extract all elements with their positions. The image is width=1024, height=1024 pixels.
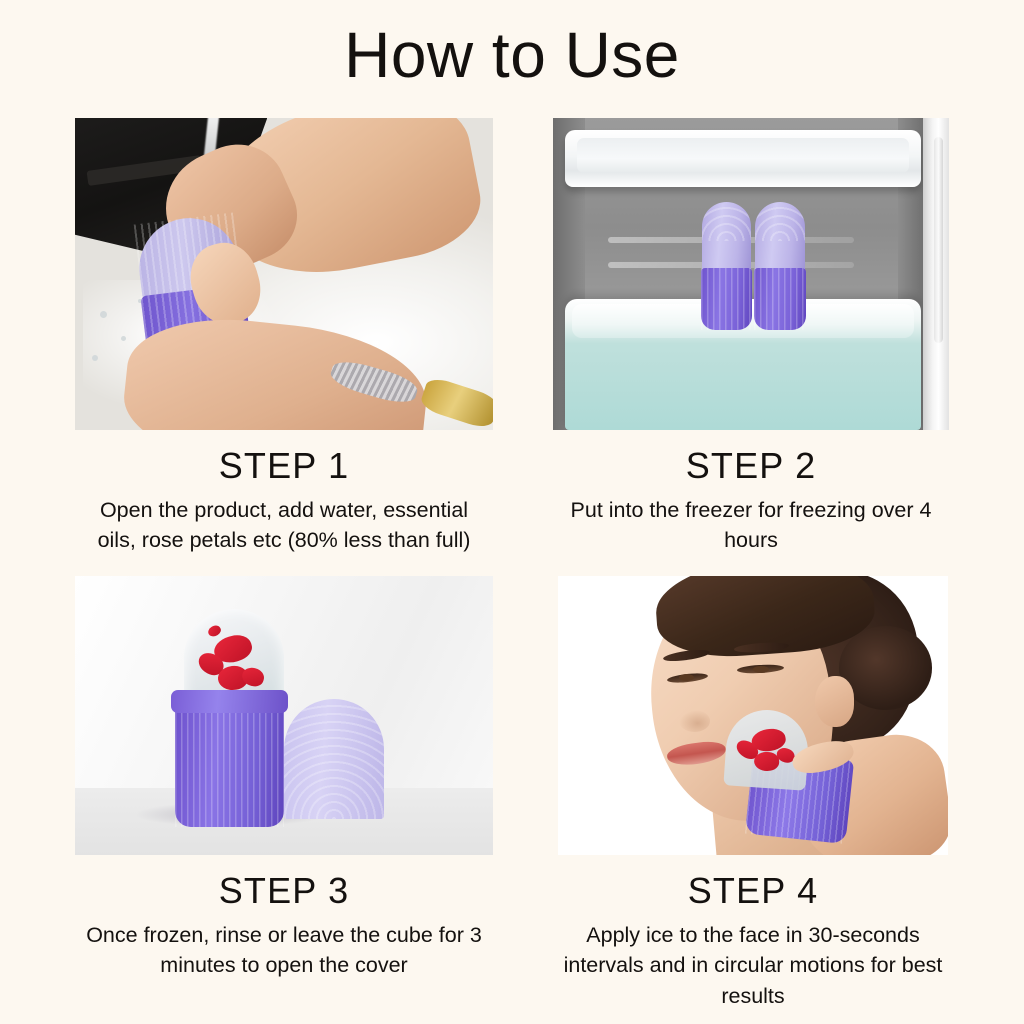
base-ribs: [175, 693, 284, 827]
product-base: [175, 693, 284, 827]
shelf-glass: [577, 138, 908, 173]
product-lid: [755, 202, 805, 272]
lid-ribs: [755, 202, 805, 241]
freezer-door-handle: [934, 137, 943, 343]
lid-ribs: [702, 202, 752, 241]
step-2-description: Put into the freezer for freezing over 4…: [553, 495, 949, 556]
step-1-label: STEP 1: [75, 446, 493, 486]
step-1-caption: STEP 1 Open the product, add water, esse…: [75, 430, 493, 556]
step-2-image: [553, 118, 949, 430]
step-card-4: STEP 4 Apply ice to the face in 30-secon…: [558, 576, 948, 1011]
model-iris-right: [753, 666, 769, 673]
rose-petal: [206, 623, 222, 638]
product-base: [754, 268, 806, 329]
step-card-3: STEP 3 Once frozen, rinse or leave the c…: [75, 576, 493, 981]
step-4-label: STEP 4: [558, 871, 948, 911]
product-lid: [702, 202, 752, 272]
step-3-caption: STEP 3 Once frozen, rinse or leave the c…: [75, 855, 493, 981]
ice-roller-right: [755, 202, 805, 327]
step-3-description: Once frozen, rinse or leave the cube for…: [75, 920, 493, 981]
step-1-description: Open the product, add water, essential o…: [75, 495, 493, 556]
page-title: How to Use: [0, 22, 1024, 89]
rose-petal: [754, 752, 779, 772]
model-ear: [815, 676, 854, 726]
step-4-caption: STEP 4 Apply ice to the face in 30-secon…: [558, 855, 948, 1011]
step-card-2: STEP 2 Put into the freezer for freezing…: [553, 118, 949, 556]
step-3-label: STEP 3: [75, 871, 493, 911]
ice-roller-left: [702, 202, 752, 327]
freezer-upper-shelf: [565, 130, 921, 186]
base-ribs: [754, 268, 806, 329]
how-to-use-infographic: How to Use: [0, 0, 1024, 1024]
step-3-image: [75, 576, 493, 855]
step-1-image: [75, 118, 493, 430]
product-cover: [284, 699, 384, 819]
product-base: [701, 268, 753, 329]
water-droplet: [92, 355, 98, 361]
step-2-caption: STEP 2 Put into the freezer for freezing…: [553, 430, 949, 556]
step-4-image: [558, 576, 948, 855]
step-2-label: STEP 2: [553, 446, 949, 486]
cover-ribs: [284, 699, 384, 819]
step-4-description: Apply ice to the face in 30-seconds inte…: [558, 920, 948, 1012]
base-collar: [171, 690, 288, 712]
step-card-1: STEP 1 Open the product, add water, esse…: [75, 118, 493, 556]
base-ribs: [701, 268, 753, 329]
